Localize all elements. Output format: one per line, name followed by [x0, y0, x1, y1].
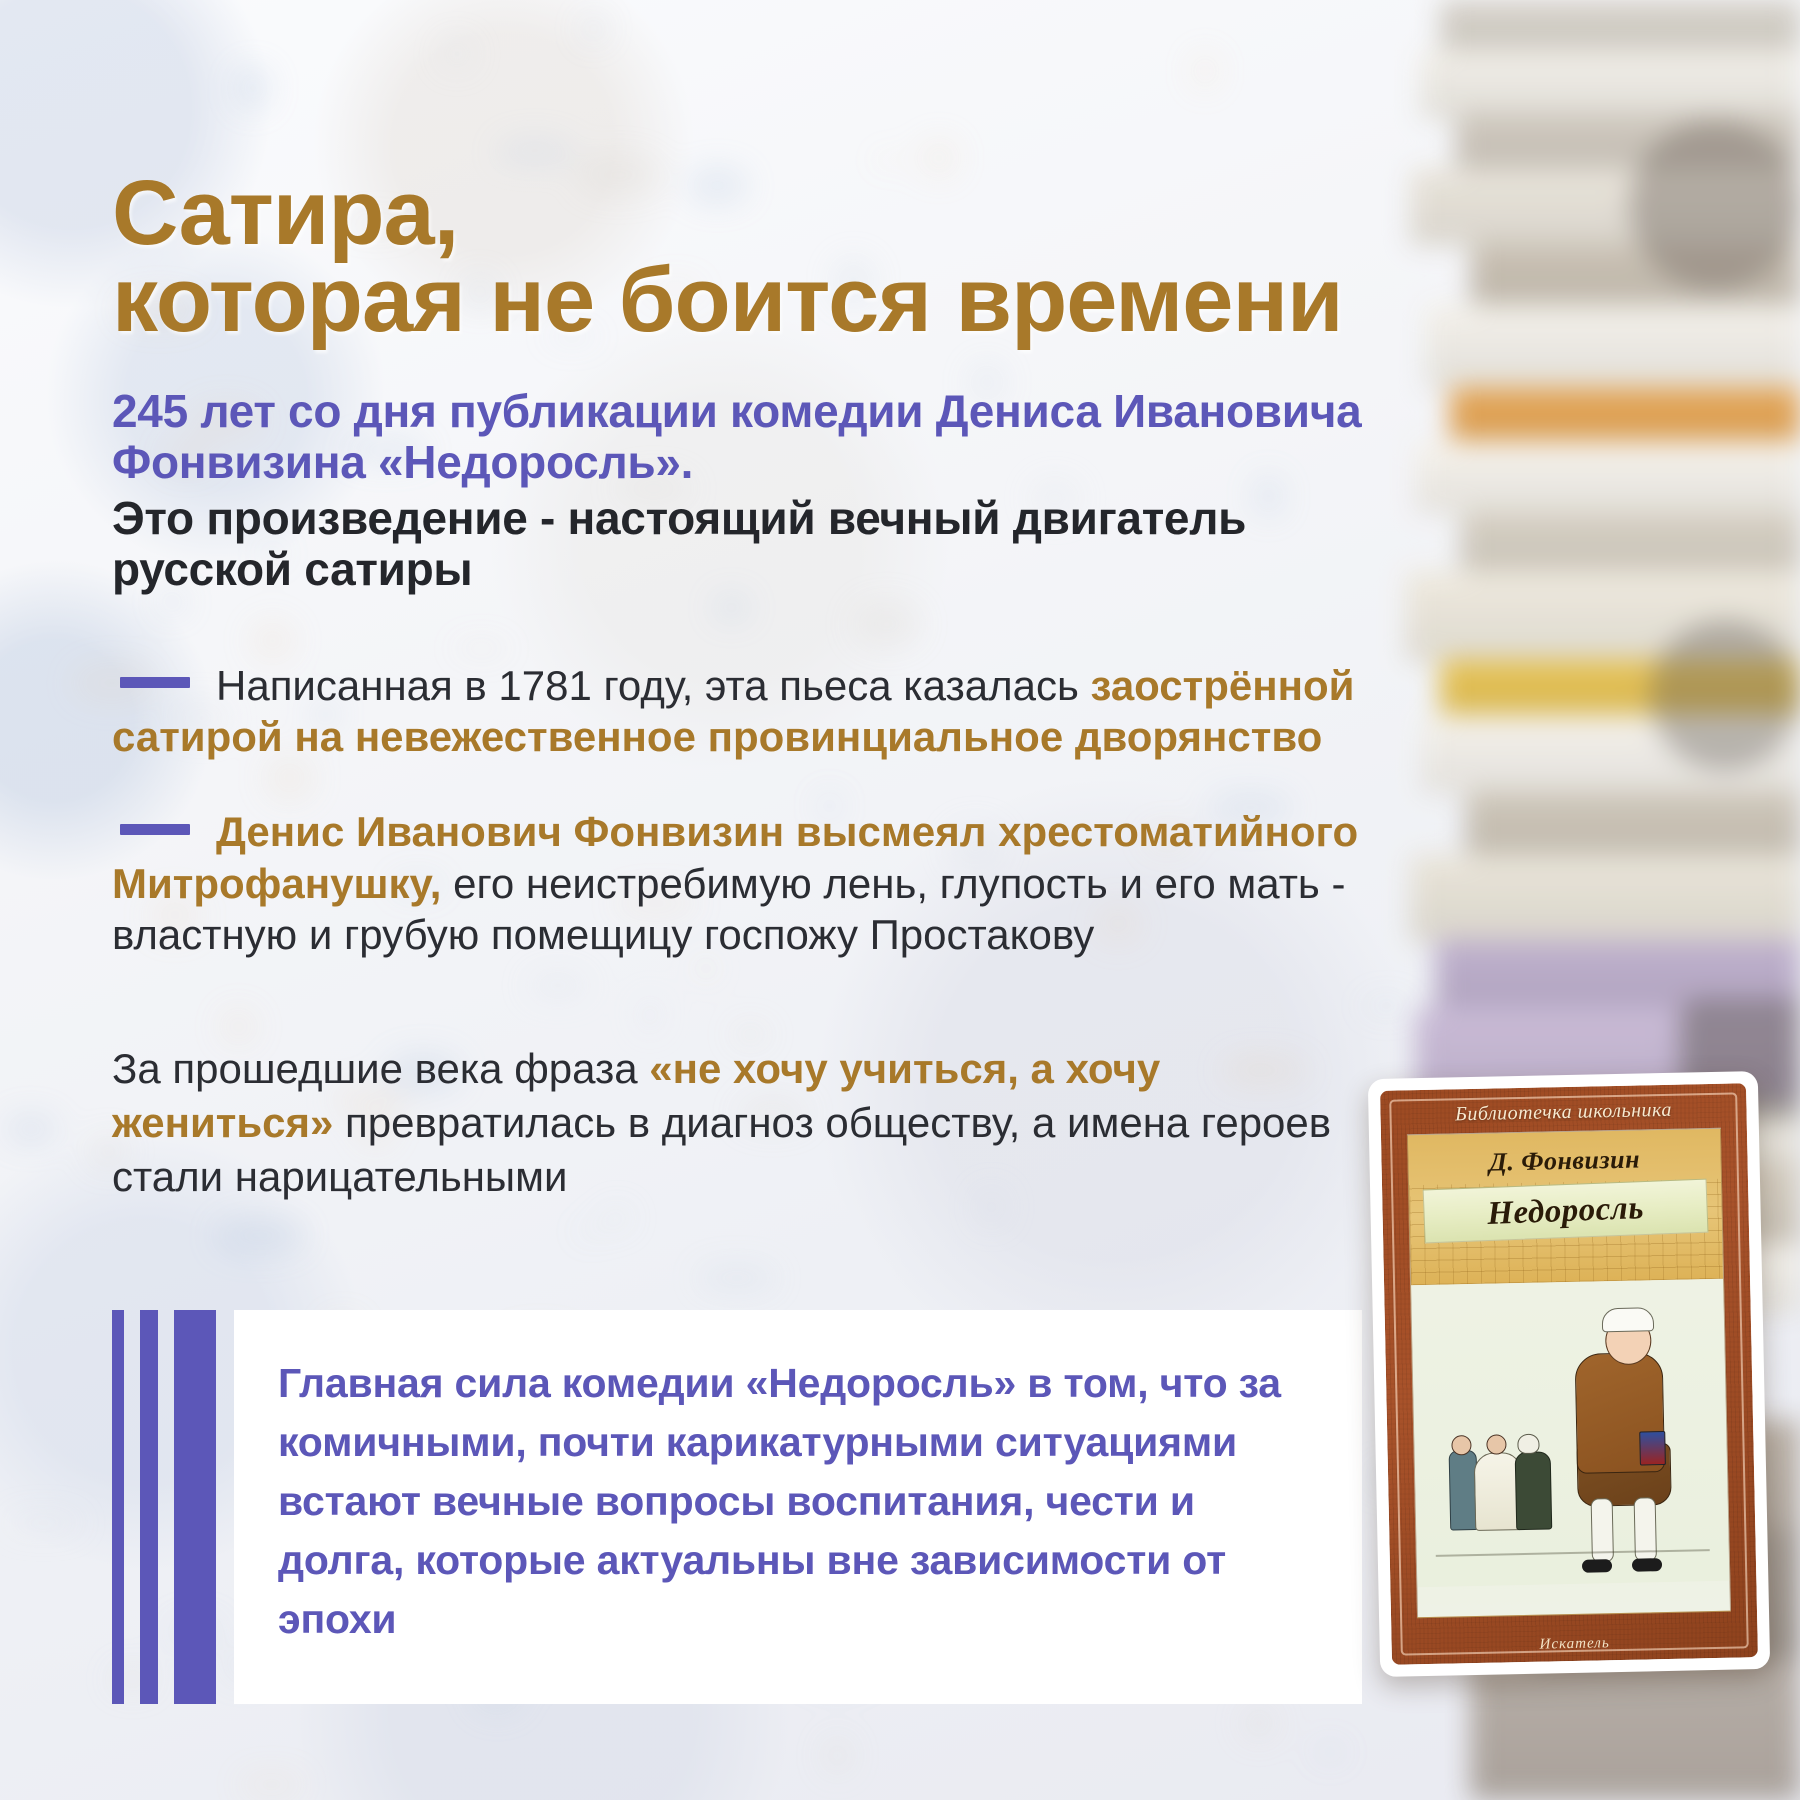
quote-accent-bar-2	[140, 1310, 158, 1704]
quote-card: Главная сила комедии «Недоросль» в том, …	[234, 1310, 1362, 1704]
book-cover-card: Библиотечка школьника Д. Фонвизин Недоро…	[1368, 1071, 1770, 1677]
quote-text: Главная сила комедии «Недоросль» в том, …	[278, 1354, 1318, 1649]
book-title-ribbon: Недоросль	[1423, 1179, 1709, 1244]
illustration-ground-line	[1435, 1549, 1710, 1557]
lede-statement-line: Это произведение - настоящий вечный двиг…	[112, 493, 1432, 594]
mitrofan-right-shoe	[1632, 1558, 1662, 1572]
quote-block: Главная сила комедии «Недоросль» в том, …	[112, 1310, 1362, 1704]
dash-bullet-icon	[120, 824, 190, 835]
dash-bullet-icon	[120, 677, 190, 688]
lede-block: 245 лет со дня публикации комедии Дениса…	[112, 386, 1432, 594]
book-illustration	[1411, 1279, 1729, 1587]
poster-content: Сатира, которая не боится времени 245 ле…	[0, 0, 1800, 1800]
list-item: Денис Иванович Фонвизин высмеял хрестома…	[112, 806, 1532, 960]
lede-anniversary-line: 245 лет со дня публикации комедии Дениса…	[112, 386, 1432, 487]
quote-accent-bar-1	[112, 1310, 124, 1704]
book-title-label: Недоросль	[1424, 1180, 1708, 1243]
bullet-1-plain-a: Написанная в 1781 году, эта пьеса казала…	[216, 662, 1091, 709]
book-cover-plate: Д. Фонвизин Недоросль	[1407, 1128, 1731, 1618]
figure-tutor-head	[1517, 1434, 1539, 1454]
mitrofan-cap	[1602, 1307, 1654, 1332]
page-title: Сатира, которая не боится времени	[112, 170, 1442, 345]
mitrofan-book-icon	[1639, 1431, 1666, 1466]
book-cover-art: Библиотечка школьника Д. Фонвизин Недоро…	[1380, 1083, 1758, 1665]
figure-lady-head	[1486, 1434, 1506, 1454]
bullet-list: Написанная в 1781 году, эта пьеса казала…	[112, 660, 1532, 1004]
mitrofan-left-shoe	[1582, 1559, 1612, 1573]
figure-tutor	[1514, 1452, 1552, 1531]
quote-accent-bar-3	[174, 1310, 216, 1704]
list-item: Написанная в 1781 году, эта пьеса казала…	[112, 660, 1532, 762]
paragraph-plain-a: За прошедшие века фраза	[112, 1045, 649, 1092]
closing-paragraph: За прошедшие века фраза «не хочу учиться…	[112, 1042, 1372, 1203]
page-title-line2: которая не боится времени	[112, 257, 1442, 344]
